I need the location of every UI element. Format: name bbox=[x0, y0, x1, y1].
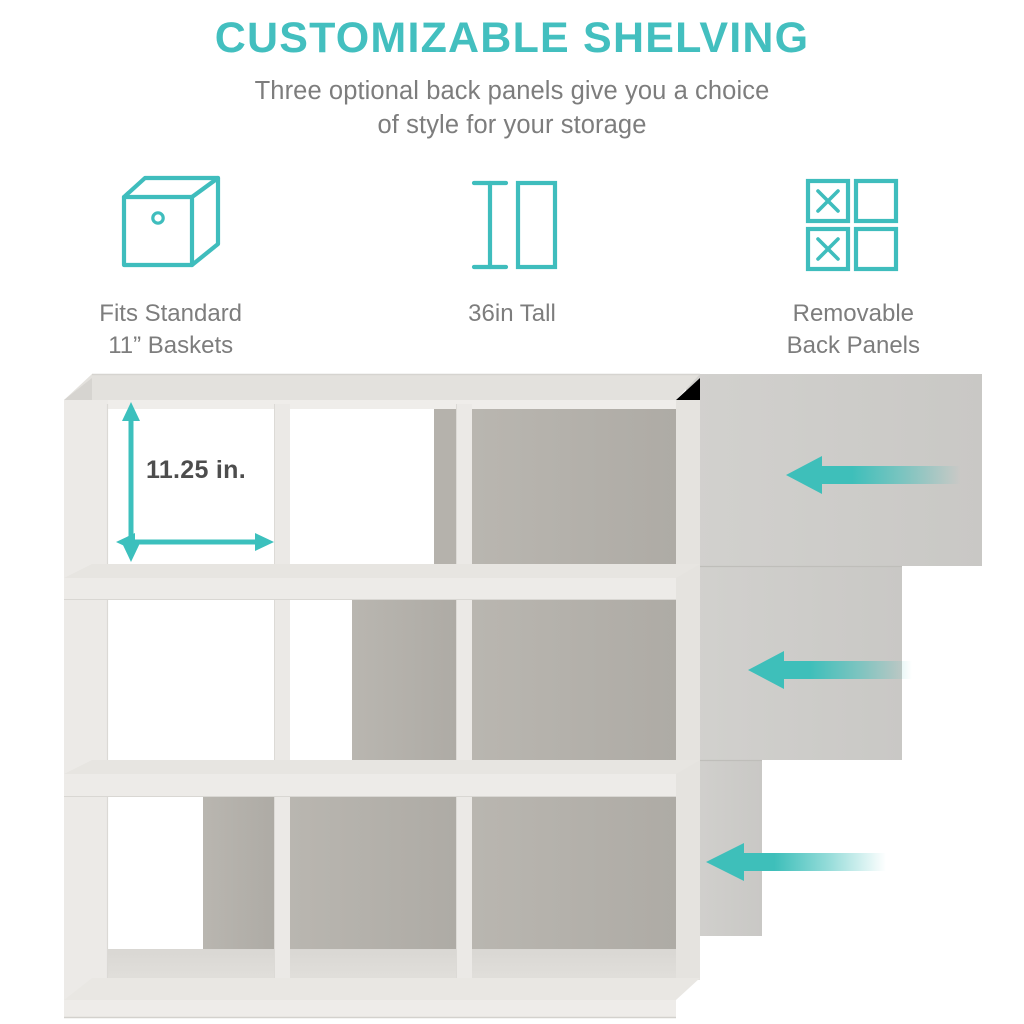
shelf-left-stile bbox=[64, 400, 108, 1004]
cube-r1c2-side bbox=[434, 404, 456, 564]
cube-r1c3-interior bbox=[472, 404, 676, 564]
product-illustration bbox=[0, 0, 1024, 1024]
cube-r3c1-back bbox=[203, 797, 274, 949]
shelf-top-surface bbox=[64, 374, 700, 400]
shelf-divider-2 bbox=[456, 404, 472, 1000]
cube-r3c1-interior bbox=[108, 797, 203, 949]
left-arrow-icon-bottom bbox=[706, 843, 886, 881]
cube-r2c3-interior bbox=[472, 600, 676, 760]
cube-r2c2-back bbox=[352, 600, 456, 760]
shelf-divider-1 bbox=[274, 404, 290, 1000]
cube-r2c1-interior bbox=[108, 600, 274, 760]
cube-r3c3-interior bbox=[472, 797, 676, 949]
shelf-top-front-edge bbox=[64, 400, 676, 409]
cube-r3c2-interior bbox=[290, 797, 456, 949]
cube-shelf-unit bbox=[64, 374, 700, 1018]
cube-r2c2-interior bbox=[290, 600, 352, 760]
cube-r1c2-interior bbox=[290, 404, 456, 564]
